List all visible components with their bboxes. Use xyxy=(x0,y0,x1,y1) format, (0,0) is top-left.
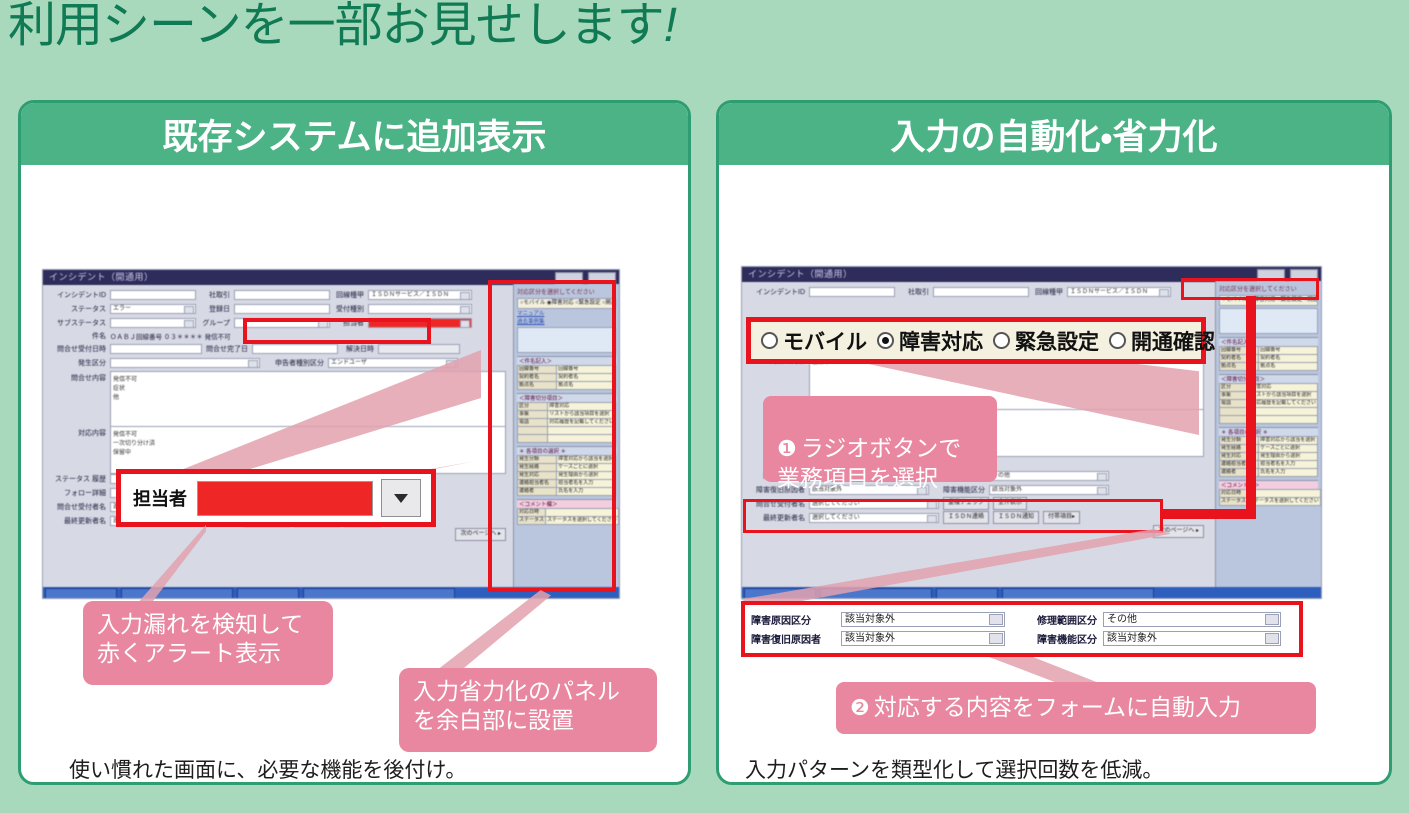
cell-value: ステータスを選択してください xyxy=(1248,498,1321,506)
radio-dot[interactable] xyxy=(1109,332,1126,349)
field-label-line-type: 回線種甲 xyxy=(334,290,364,300)
radio-label: モバイル xyxy=(783,326,867,356)
assist-section-table: 発生分類障害対応から該当を選択 発生経路ケースごとに選択 発生対応発生理由から選… xyxy=(1219,436,1318,477)
panel-caption-left: 使い慣れた画面に、必要な機能を後付け。 従来通りの入力も可能で、ベテランを邪魔し… xyxy=(69,755,669,785)
step-number-1: ❶ xyxy=(777,436,797,461)
field-label-substatus: サブステータス xyxy=(48,318,106,328)
cell-value: 契約者名 xyxy=(1259,355,1318,363)
zoom-cone-panel-bubble xyxy=(421,590,551,680)
radio-label: 開通確認 xyxy=(1131,326,1215,356)
page-title-exclamation: ! xyxy=(664,0,676,52)
assist-section-title: ＜障害切分項目＞ xyxy=(1219,374,1318,383)
form-row: 発生区分 申告者種別区分 エンドユーザ xyxy=(48,357,506,368)
field-repair-scope[interactable]: その他 xyxy=(989,471,1109,481)
field-contract[interactable] xyxy=(933,287,1029,297)
alert-connector-bar xyxy=(1246,296,1256,518)
panel-card-existing-system: 既存システムに追加表示 インシデント（開通用） インシデントID 社取引 回線種… xyxy=(18,100,691,785)
table-row: 対応日時 xyxy=(1220,490,1321,498)
table-row: 障害原因区分 該当対象外 修理範囲区分 その他 xyxy=(751,611,1293,628)
magnified-autofill-form: 障害原因区分 該当対象外 修理範囲区分 その他 障害復旧原因者 該当対象外 障害… xyxy=(741,601,1303,657)
field-repair-scope[interactable]: その他 xyxy=(1103,612,1281,627)
field-label-response-content: 対応内容 xyxy=(48,426,106,438)
field-regdate[interactable] xyxy=(234,304,330,314)
field-line-type[interactable]: ＩＳＤＮサービス／ＩＳＤＮ xyxy=(368,290,472,300)
field-fault-cause[interactable]: 該当対象外 xyxy=(841,612,1005,627)
field-incident-id[interactable] xyxy=(110,290,196,300)
cell-value xyxy=(1250,416,1318,424)
alert-highlight-side-panel xyxy=(488,280,616,592)
field-label-subject: 件名 xyxy=(48,331,106,341)
cell-value: 氏名を入力 xyxy=(1259,469,1318,477)
field-label-repair-scope: 修理範囲区分 xyxy=(1011,612,1097,627)
field-label-inquiry-datetime: 問合せ受付日時 xyxy=(48,344,106,354)
panel-body-existing-system: インシデント（開通用） インシデントID 社取引 回線種甲 ＩＳＤＮサービス／Ｉ… xyxy=(21,165,688,785)
radio-label: 緊急設定 xyxy=(1015,326,1099,356)
panel-header-existing-system: 既存システムに追加表示 xyxy=(21,103,688,165)
magnified-assignee-label: 担当者 xyxy=(133,485,187,511)
magnified-assignee-field: 担当者 xyxy=(116,469,436,527)
radio-dot[interactable] xyxy=(761,332,778,349)
chevron-down-icon[interactable] xyxy=(381,479,421,517)
panel-header-automation: 入力の自動化・省力化 xyxy=(719,103,1389,165)
field-contract[interactable] xyxy=(234,290,330,300)
field-substatus[interactable] xyxy=(110,318,196,328)
field-status[interactable]: エラー xyxy=(110,304,196,314)
radio-option-mobile[interactable]: モバイル xyxy=(761,326,867,356)
table-row: 発生対応発生理由から選択 xyxy=(1220,453,1318,461)
radio-option-activation[interactable]: 開通確認 xyxy=(1109,326,1215,356)
field-complete-datetime[interactable] xyxy=(252,344,338,354)
field-label-resolve-datetime: 解決日時 xyxy=(342,344,374,354)
field-fault-recover[interactable]: 該当対象外 xyxy=(841,631,1005,646)
field-incident-id[interactable] xyxy=(809,287,895,297)
cell-value: 対応履歴を記載してください xyxy=(1250,400,1318,408)
field-label-receiver-name: 問合せ受付者名 xyxy=(48,502,106,512)
field-label-updater-name: 最終更新者名 xyxy=(48,516,106,526)
form-row: インシデントID 社取引 回線種甲 ＩＳＤＮサービス／ＩＳＤＮ xyxy=(48,289,506,300)
field-label-incident-id: インシデントID xyxy=(747,287,805,297)
cell-value: リストから該当項目を選択 xyxy=(1250,392,1318,400)
page-title: 利用シーンを一部お見せします! xyxy=(8,2,676,50)
form-row: 次のページへ ▸ xyxy=(48,529,506,540)
field-line-type[interactable]: ＩＳＤＮサービス／ＩＳＤＮ xyxy=(1067,287,1171,297)
cell-key: ステータス xyxy=(1220,498,1248,506)
radio-option-fault[interactable]: 障害対応 xyxy=(877,326,983,356)
annotation-bubble-panel: 入力省力化のパネル を余白部に設置 xyxy=(399,668,657,752)
annotation-bubble-step2: ❷対応する内容をフォームに自動入力 xyxy=(836,682,1316,734)
annotation-bubble-alert: 入力漏れを検知して 赤くアラート表示 xyxy=(83,601,333,685)
table-row: 拠点名拠点名 xyxy=(1220,363,1318,371)
form-row: 問合せ受付日時 問合せ完了日時 解決日時 xyxy=(48,343,506,354)
field-label-fault-func: 障害機能区分 xyxy=(1011,631,1097,646)
field-label-occur-type: 発生区分 xyxy=(48,358,106,368)
field-fault-func[interactable]: 該当対象外 xyxy=(989,485,1109,495)
field-label-fault-func: 障害機能区分 xyxy=(933,485,985,495)
field-label-line-type: 回線種甲 xyxy=(1033,287,1063,297)
table-row: 障害復旧原因者 該当対象外 障害機能区分 該当対象外 xyxy=(751,630,1293,647)
assist-section-table: 回線番号回線番号 契約者名契約者名 拠点名拠点名 xyxy=(1219,346,1318,371)
cell-key: 対応日時 xyxy=(1220,490,1248,498)
field-label-reporter-type: 申告者種別区分 xyxy=(264,358,324,368)
field-reception[interactable] xyxy=(368,304,472,314)
assist-section-title: ＊ 各項目の選択 ＊ xyxy=(1219,427,1318,436)
table-row: 事象リストから該当項目を選択 xyxy=(1220,392,1318,400)
radio-dot-selected[interactable] xyxy=(877,332,894,349)
table-row: 区分障害対応 xyxy=(1220,384,1318,392)
table-row xyxy=(1220,416,1318,424)
step-number-2: ❷ xyxy=(850,694,870,722)
field-fault-func[interactable]: 該当対象外 xyxy=(1103,631,1281,646)
zoom-cone-step2 xyxy=(989,657,1099,683)
assist-section-title: ＜件名記入＞ xyxy=(1219,337,1318,346)
field-label-contract: 社取引 xyxy=(899,287,929,297)
assist-section-table: 区分障害対応 事象リストから該当項目を選択 電話対応履歴を記載してください xyxy=(1219,383,1318,424)
field-label-group: グループ xyxy=(200,318,230,328)
assist-note-box[interactable] xyxy=(1219,308,1318,334)
page-title-text: 利用シーンを一部お見せします xyxy=(8,0,664,52)
field-label-contract: 社取引 xyxy=(200,290,230,300)
panel-body-automation: インシデント（開通用） インシデントID 社取引 回線種甲 ＩＳＤＮサービス／Ｉ… xyxy=(719,165,1389,785)
table-row: 契約者名契約者名 xyxy=(1220,355,1318,363)
magnified-assignee-input[interactable] xyxy=(197,481,373,516)
table-row: ステータスステータスを選択してください xyxy=(1220,498,1321,506)
assist-section-title: ＜コメント欄＞ xyxy=(1219,480,1318,489)
field-label-incident-id: インシデントID xyxy=(48,290,106,300)
cell-value: 回線番号 xyxy=(1259,347,1318,355)
cell-value: 障害対応 xyxy=(1250,384,1318,392)
table-row xyxy=(1220,408,1318,416)
radio-dot[interactable] xyxy=(993,332,1010,349)
field-label-follow-detail: フォロー詳細 xyxy=(48,488,106,498)
form-row: インシデントID 社取引 回線種甲 ＩＳＤＮサービス／ＩＳＤＮ xyxy=(747,286,1204,297)
cell-value xyxy=(1248,490,1321,498)
magnified-radio-group: モバイル 障害対応 緊急設定 開通確認 xyxy=(746,317,1206,364)
table-row: 連絡者氏名を入力 xyxy=(1220,469,1318,477)
assist-section-table: 対応日時 ステータスステータスを選択してください xyxy=(1219,489,1321,506)
field-label-status: ステータス xyxy=(48,304,106,314)
table-row: 電話対応履歴を記載してください xyxy=(1220,400,1318,408)
alert-highlight-autofill-rows xyxy=(743,499,1163,533)
table-row: 発生経路ケースごとに選択 xyxy=(1220,445,1318,453)
app-window-title: インシデント（開通用） xyxy=(748,269,853,279)
step-text-2: 対応する内容をフォームに自動入力 xyxy=(874,693,1241,722)
field-inquiry-datetime[interactable] xyxy=(110,344,202,354)
cell-value: 担当者名を入力 xyxy=(1259,461,1318,469)
cell-value: 障害対応から該当を選択 xyxy=(1259,437,1318,445)
field-reporter-type[interactable]: エンドユーザ xyxy=(328,358,458,368)
table-row: 回線番号回線番号 xyxy=(1220,347,1318,355)
cell-value xyxy=(1250,408,1318,416)
radio-option-urgent[interactable]: 緊急設定 xyxy=(993,326,1099,356)
alert-connector-bar-horizontal xyxy=(1163,509,1256,519)
panel-caption-right: 入力パターンを類型化して選択回数を低減。 自動で選択されるためマニュアル参照も不… xyxy=(745,755,1375,785)
cell-value: 発生理由から選択 xyxy=(1259,453,1318,461)
panel-card-automation: 入力の自動化・省力化 インシデント（開通用） インシデントID 社取引 回線種甲… xyxy=(716,100,1392,785)
field-label-reception: 受付種別 xyxy=(334,304,364,314)
field-occur-type[interactable] xyxy=(110,358,260,368)
field-label-status-history: ステータス 履歴 xyxy=(48,474,106,484)
field-label-complete-datetime: 問合せ完了日時 xyxy=(206,344,248,354)
app-window-title: インシデント（開通用） xyxy=(49,272,154,282)
annotation-bubble-step1: ❶ラジオボタンで 業務項目を選択 xyxy=(763,396,997,482)
form-row: ステータス エラー 登録日 受付種別 xyxy=(48,303,506,314)
assist-side-panel-right: 対応区分を選択してください ○モバイル ◉障害対応 ○緊急設定 ○開通確認 ＜件… xyxy=(1215,281,1321,587)
field-label-inquiry-content: 問合せ内容 xyxy=(48,371,106,383)
radio-label: 障害対応 xyxy=(899,326,983,356)
field-subject-value: ＯＡＢＪ回線番号 ０３＊＊＊＊ 発信不可 xyxy=(110,331,231,341)
field-resolve-datetime[interactable] xyxy=(378,344,460,354)
step-text-1: ラジオボタンで 業務項目を選択 xyxy=(777,435,961,490)
cell-value: ケースごとに選択 xyxy=(1259,445,1318,453)
cell-value: 拠点名 xyxy=(1259,363,1318,371)
table-row: 発生分類障害対応から該当を選択 xyxy=(1220,437,1318,445)
field-label-regdate: 登録日 xyxy=(200,304,230,314)
field-label-fault-cause: 障害原因区分 xyxy=(751,612,835,627)
alert-highlight-assignee xyxy=(243,318,431,344)
table-row: 連絡担当者名担当者名を入力 xyxy=(1220,461,1318,469)
field-label-fault-recover: 障害復旧原因者 xyxy=(751,631,835,646)
